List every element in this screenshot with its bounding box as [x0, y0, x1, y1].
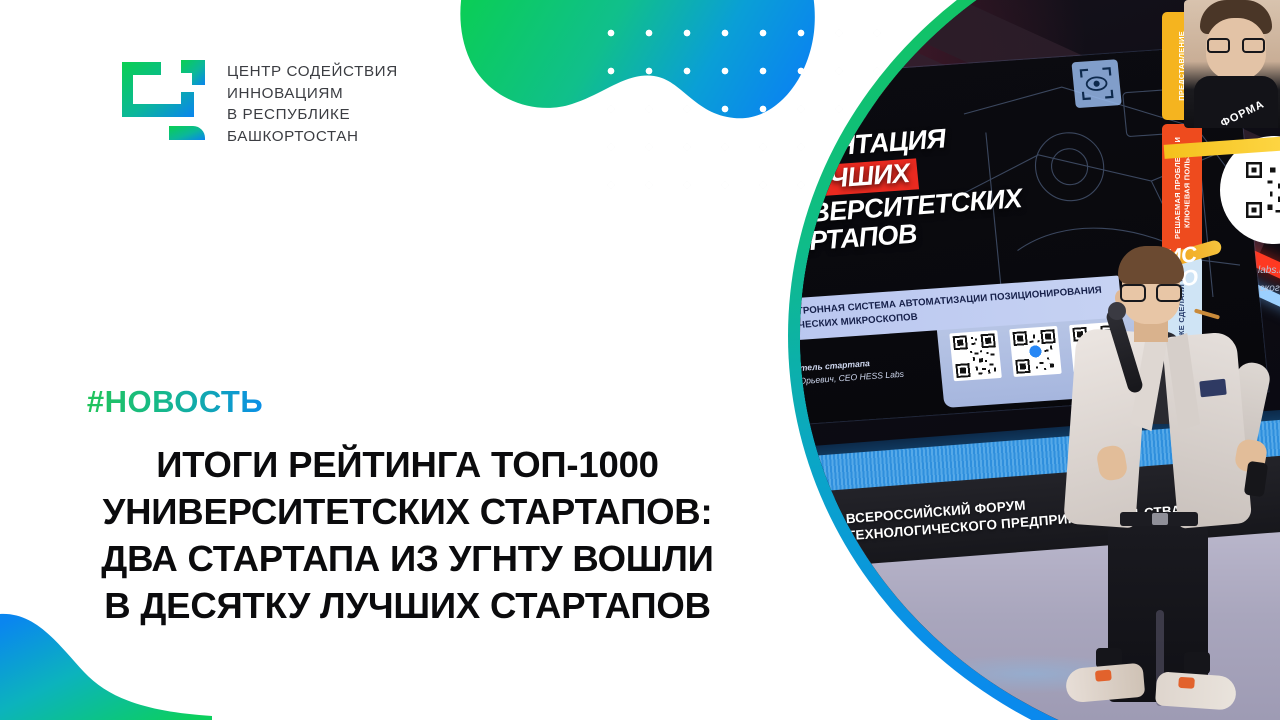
speaker-jacket-left: [1063, 328, 1148, 529]
presentation-clicker: [1244, 461, 1269, 497]
photo-clip: ПРЕЗЕНТАЦИЯ 50 ЛУЧШИХ УНИВЕРСИТЕТСКИХ СТ…: [750, 0, 1280, 720]
qr-code-icon: [949, 330, 1002, 381]
speaker-sock-right: [1184, 652, 1210, 674]
event-photo: ПРЕЗЕНТАЦИЯ 50 ЛУЧШИХ УНИВЕРСИТЕТСКИХ СТ…: [750, 0, 1280, 720]
cir-bashkortostan-logo-icon: [119, 52, 211, 152]
portrait-glasses-icon: [1206, 38, 1266, 53]
brand-logo[interactable]: ЦЕНТР СОДЕЙСТВИЯ ИННОВАЦИЯМ В РЕСПУБЛИКЕ…: [119, 52, 398, 152]
news-copy: #НОВОСТЬ ИТОГИ РЕЙТИНГА ТОП-1000 УНИВЕРС…: [0, 384, 815, 630]
speaker-shoe-right: [1155, 671, 1237, 710]
news-tag: #НОВОСТЬ: [87, 384, 263, 420]
speaker-shoe-left: [1065, 663, 1146, 704]
speaker-belt-buckle: [1152, 513, 1168, 525]
speaker-hair: [1118, 246, 1184, 284]
page-title: ИТОГИ РЕЙТИНГА ТОП-1000 УНИВЕРСИТЕТСКИХ …: [0, 442, 815, 630]
speaker-figure: [1037, 94, 1272, 694]
speaker-pocket-square: [1199, 379, 1227, 398]
speaker-glasses-icon: [1120, 284, 1182, 302]
microphone-head: [1108, 302, 1126, 320]
news-card: ЦЕНТР СОДЕЙСТВИЯ ИННОВАЦИЯМ В РЕСПУБЛИКЕ…: [0, 0, 1280, 720]
brand-name: ЦЕНТР СОДЕЙСТВИЯ ИННОВАЦИЯМ В РЕСПУБЛИКЕ…: [227, 52, 398, 148]
